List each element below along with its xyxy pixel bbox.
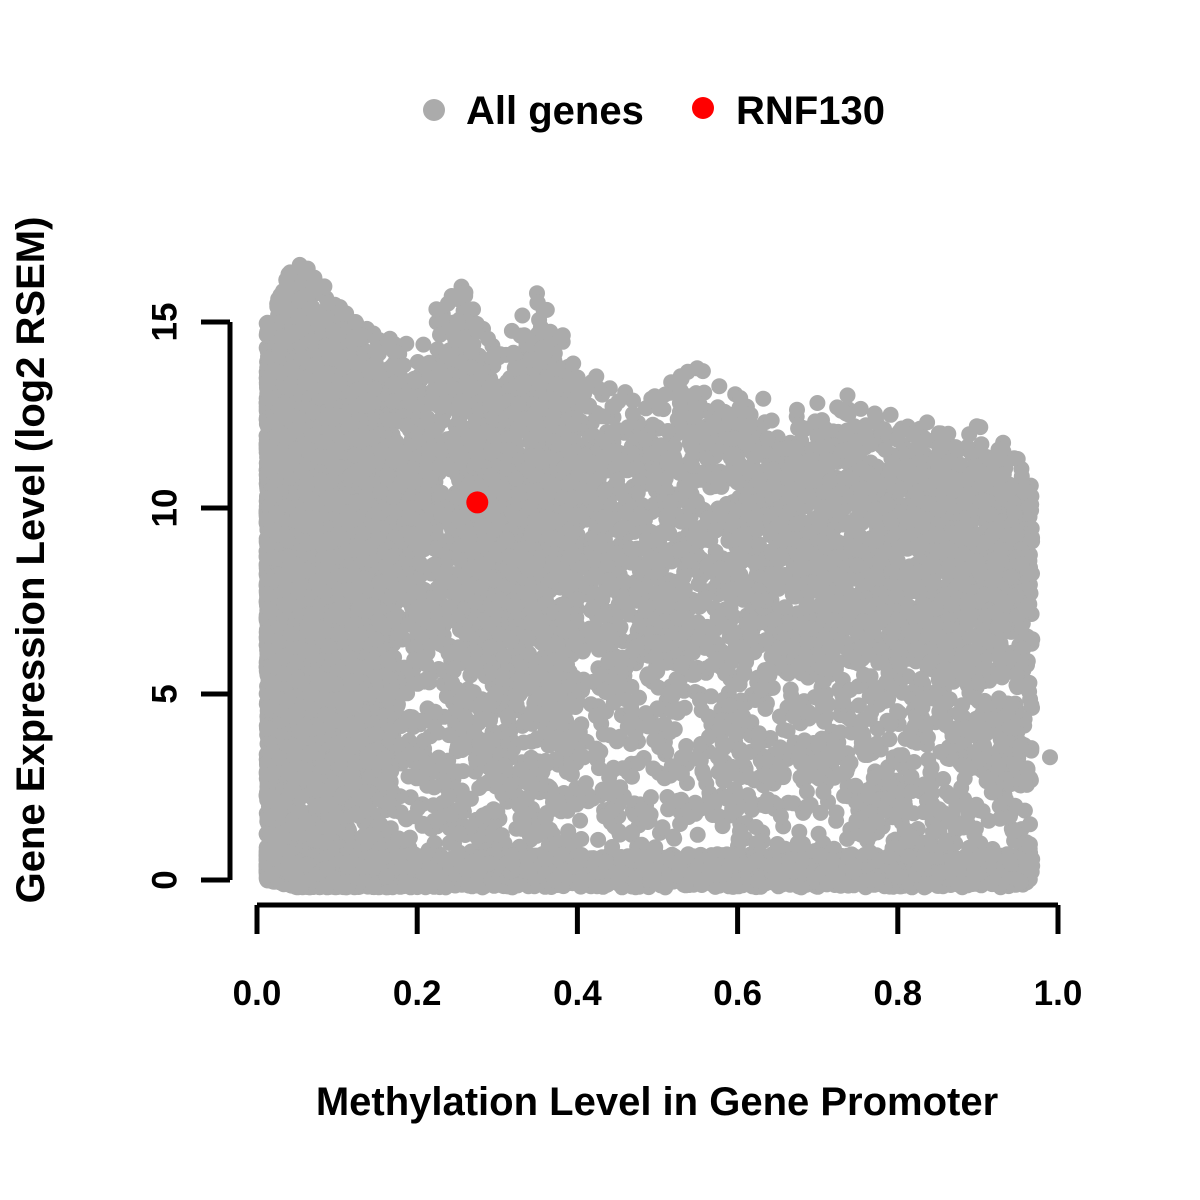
x-axis-title: Methylation Level in Gene Promoter <box>316 1080 998 1124</box>
y-axis: 051015 <box>146 303 231 890</box>
x-axis-tick-labels: 0.00.20.40.60.81.0 <box>233 974 1083 1013</box>
legend-label-all-genes: All genes <box>466 89 644 133</box>
rnf130-highlight-point[interactable] <box>466 491 488 513</box>
x-tick-label-0: 0.0 <box>233 974 282 1013</box>
outlier-point <box>1022 816 1038 832</box>
outlier-point <box>1042 749 1058 765</box>
x-tick-label-4: 0.8 <box>873 974 922 1013</box>
legend-marker-rnf130 <box>692 97 714 119</box>
y-axis-tick-labels: 051015 <box>146 303 185 890</box>
legend-marker-all-genes <box>423 99 445 121</box>
legend-item-rnf130[interactable]: RNF130 <box>692 89 885 133</box>
x-tick-label-2: 0.4 <box>553 974 602 1013</box>
y-axis-ticks <box>201 322 230 880</box>
y-axis-title: Gene Expression Level (log2 RSEM) <box>9 217 53 904</box>
x-tick-label-1: 0.2 <box>393 974 442 1013</box>
rnf130-point[interactable] <box>466 491 488 513</box>
legend: All genes RNF130 <box>423 89 885 133</box>
y-tick-label-3: 15 <box>146 303 185 342</box>
x-tick-label-5: 1.0 <box>1034 974 1083 1013</box>
x-tick-label-3: 0.6 <box>713 974 762 1013</box>
y-tick-label-2: 10 <box>146 489 185 528</box>
legend-label-rnf130: RNF130 <box>736 89 885 133</box>
y-tick-label-1: 5 <box>146 684 185 703</box>
y-tick-label-0: 0 <box>146 870 185 889</box>
x-axis-ticks <box>257 905 1058 934</box>
all-genes-point-cloud <box>259 257 1058 896</box>
x-axis: 0.00.20.40.60.81.0 <box>233 905 1083 1013</box>
legend-item-all-genes[interactable]: All genes <box>423 89 644 133</box>
plot-canvas: 0.00.20.40.60.81.0 051015 Methylation Le… <box>0 0 1200 1200</box>
scatter-plot-figure: 0.00.20.40.60.81.0 051015 Methylation Le… <box>0 0 1200 1200</box>
